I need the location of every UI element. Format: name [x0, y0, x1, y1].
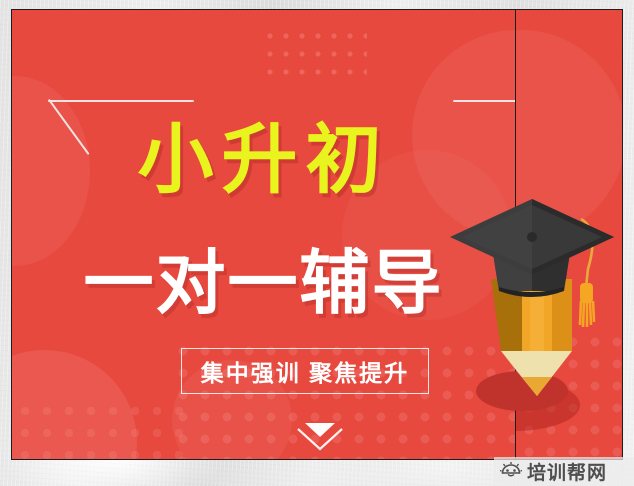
bracket-left-bar — [48, 100, 194, 102]
headline-secondary: 一对一辅导 — [12, 248, 515, 318]
graduation-cap-button — [527, 232, 537, 242]
dot-grid-left — [14, 400, 184, 460]
watermark: 培训帮网 — [494, 457, 634, 486]
poster-canvas: 小升初 一对一辅导 集中强训 聚焦提升 — [0, 0, 634, 486]
subtitle-box: 集中强训 聚焦提升 — [181, 348, 429, 394]
bracket-right-bar — [453, 100, 516, 102]
subtitle-text: 集中强训 聚焦提升 — [201, 354, 409, 388]
pencil-with-graduation-cap-illustration — [444, 191, 634, 421]
watermark-text: 培训帮网 — [527, 458, 607, 485]
smiley-sun-icon — [500, 462, 522, 482]
tassel-knot — [580, 283, 593, 303]
poster-surface: 小升初 一对一辅导 集中强训 聚焦提升 — [12, 10, 515, 459]
poster-body: 小升初 一对一辅导 集中强训 聚焦提升 — [11, 9, 516, 460]
dot-grid-top-right — [259, 24, 367, 76]
headline-primary: 小升初 — [12, 123, 515, 199]
tassel-fringe — [580, 301, 594, 327]
chevron-down-icon — [295, 418, 345, 452]
